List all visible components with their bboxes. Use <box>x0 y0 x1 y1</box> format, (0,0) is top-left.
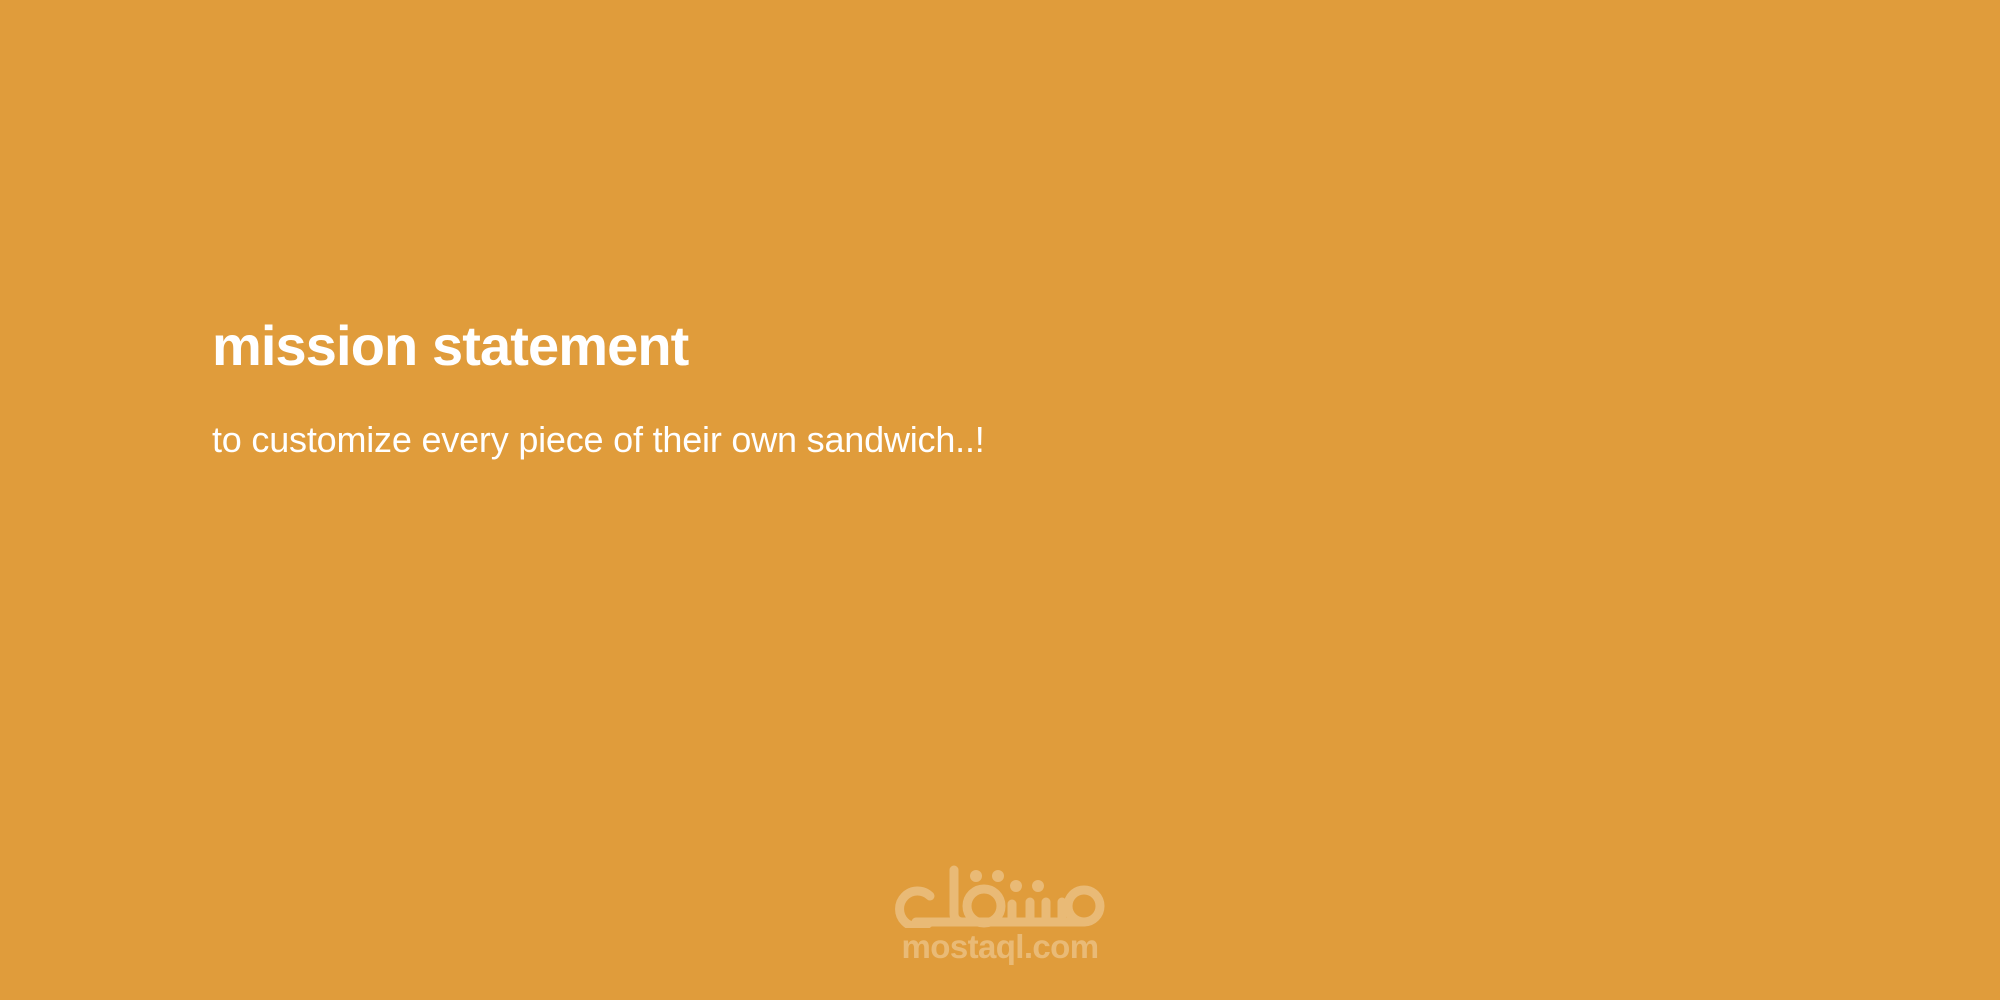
mostaql-logo-icon <box>880 862 1120 928</box>
page-title: mission statement <box>212 318 1712 374</box>
watermark-domain-label: mostaql.com <box>902 928 1099 963</box>
page-subtitle: to customize every piece of their own sa… <box>212 374 1712 458</box>
slide-canvas: mission statement to customize every pie… <box>0 0 2000 1000</box>
text-block: mission statement to customize every pie… <box>212 318 1712 458</box>
watermark: mostaql.com <box>870 862 1130 963</box>
